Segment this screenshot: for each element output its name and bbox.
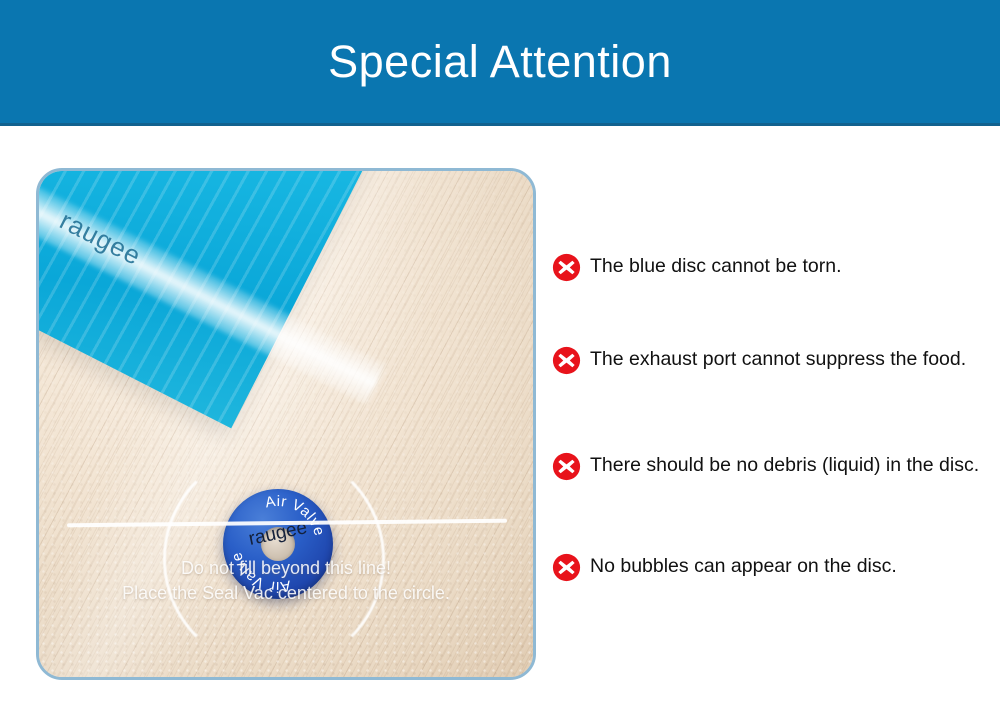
red-x-icon [552,253,581,282]
warning-item: There should be no debris (liquid) in th… [552,451,982,481]
warning-text: The exhaust port cannot suppress the foo… [590,345,966,372]
warning-item: The exhaust port cannot suppress the foo… [552,345,982,375]
page-header: Special Attention [0,0,1000,126]
warning-item: The blue disc cannot be torn. [552,252,982,282]
photo-caption: Do not fill beyond this line! Place the … [39,556,533,606]
product-photo: raugee Air Valve Air Valve raugee [36,168,536,680]
caption-line-2: Place the Seal Vac centered to the circl… [39,581,533,606]
warning-text: The blue disc cannot be torn. [590,252,842,279]
photo-inner: raugee Air Valve Air Valve raugee [39,171,533,677]
red-x-icon [552,346,581,375]
warning-item: No bubbles can appear on the disc. [552,552,982,582]
caption-line-1: Do not fill beyond this line! [39,556,533,581]
page-title: Special Attention [328,39,672,84]
warning-text: No bubbles can appear on the disc. [590,552,897,579]
warning-text: There should be no debris (liquid) in th… [590,451,979,478]
special-attention-page: Special Attention raugee Air Valve [0,0,1000,725]
red-x-icon [552,553,581,582]
red-x-icon [552,452,581,481]
